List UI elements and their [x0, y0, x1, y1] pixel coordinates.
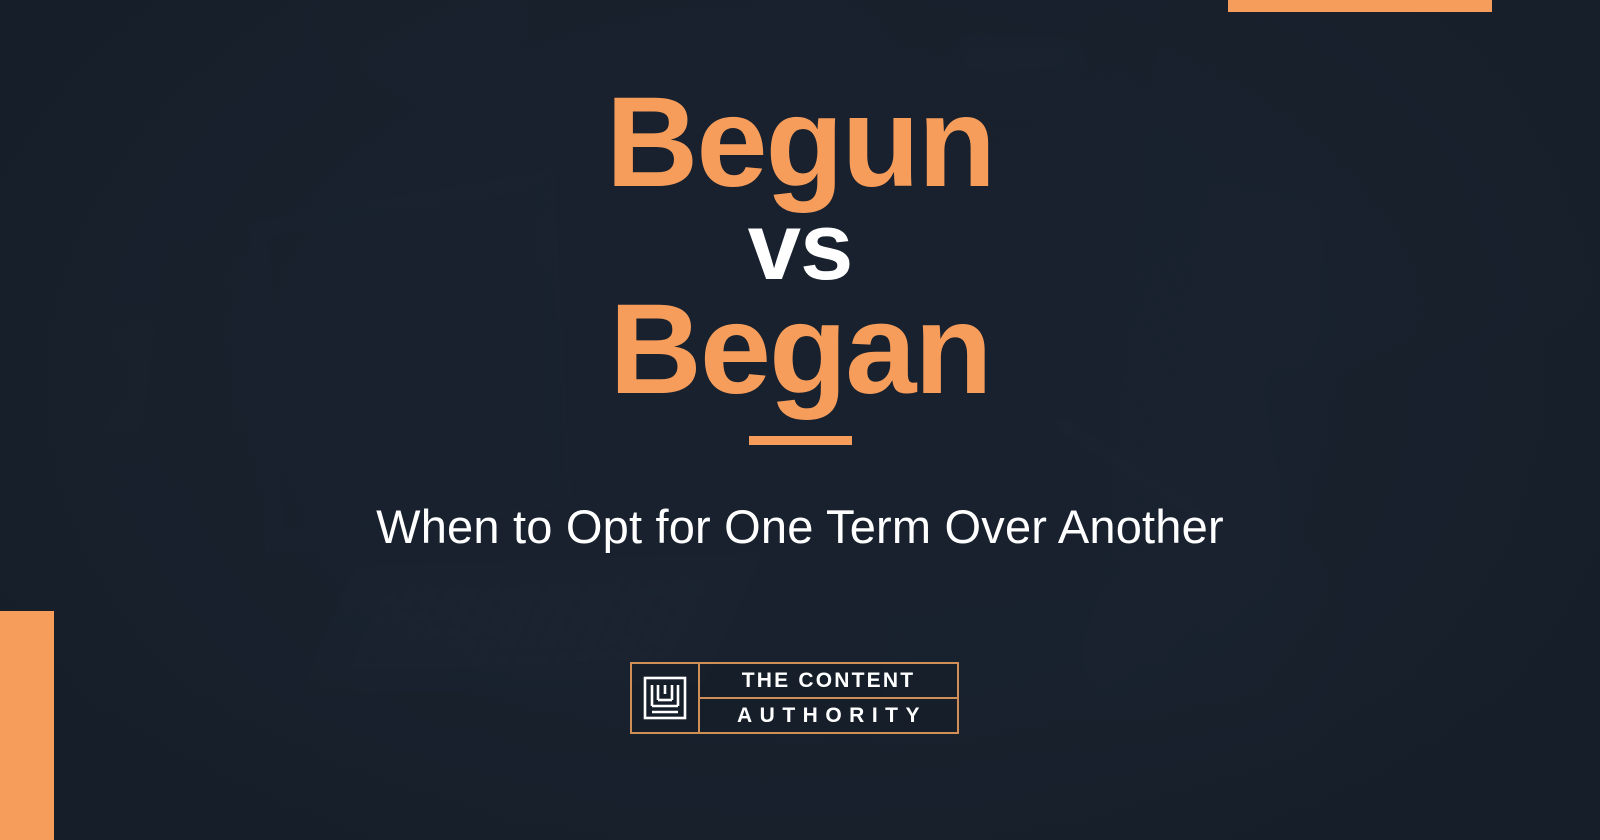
article-header-banner: Begun vs Began When to Opt for One Term …: [0, 0, 1600, 840]
brand-logo-line-1: THE CONTENT: [700, 664, 957, 699]
title-word-begun: Begun: [606, 82, 994, 205]
maze-square-icon: [632, 664, 700, 732]
page-title: Begun vs Began: [606, 82, 994, 445]
title-word-began: Began: [606, 289, 994, 412]
page-subtitle: When to Opt for One Term Over Another: [376, 499, 1224, 554]
brand-logo[interactable]: THE CONTENT AUTHORITY: [630, 662, 959, 734]
brand-logo-text: THE CONTENT AUTHORITY: [700, 664, 957, 732]
title-underline-rule: [749, 436, 852, 445]
brand-logo-line-2: AUTHORITY: [700, 699, 957, 732]
